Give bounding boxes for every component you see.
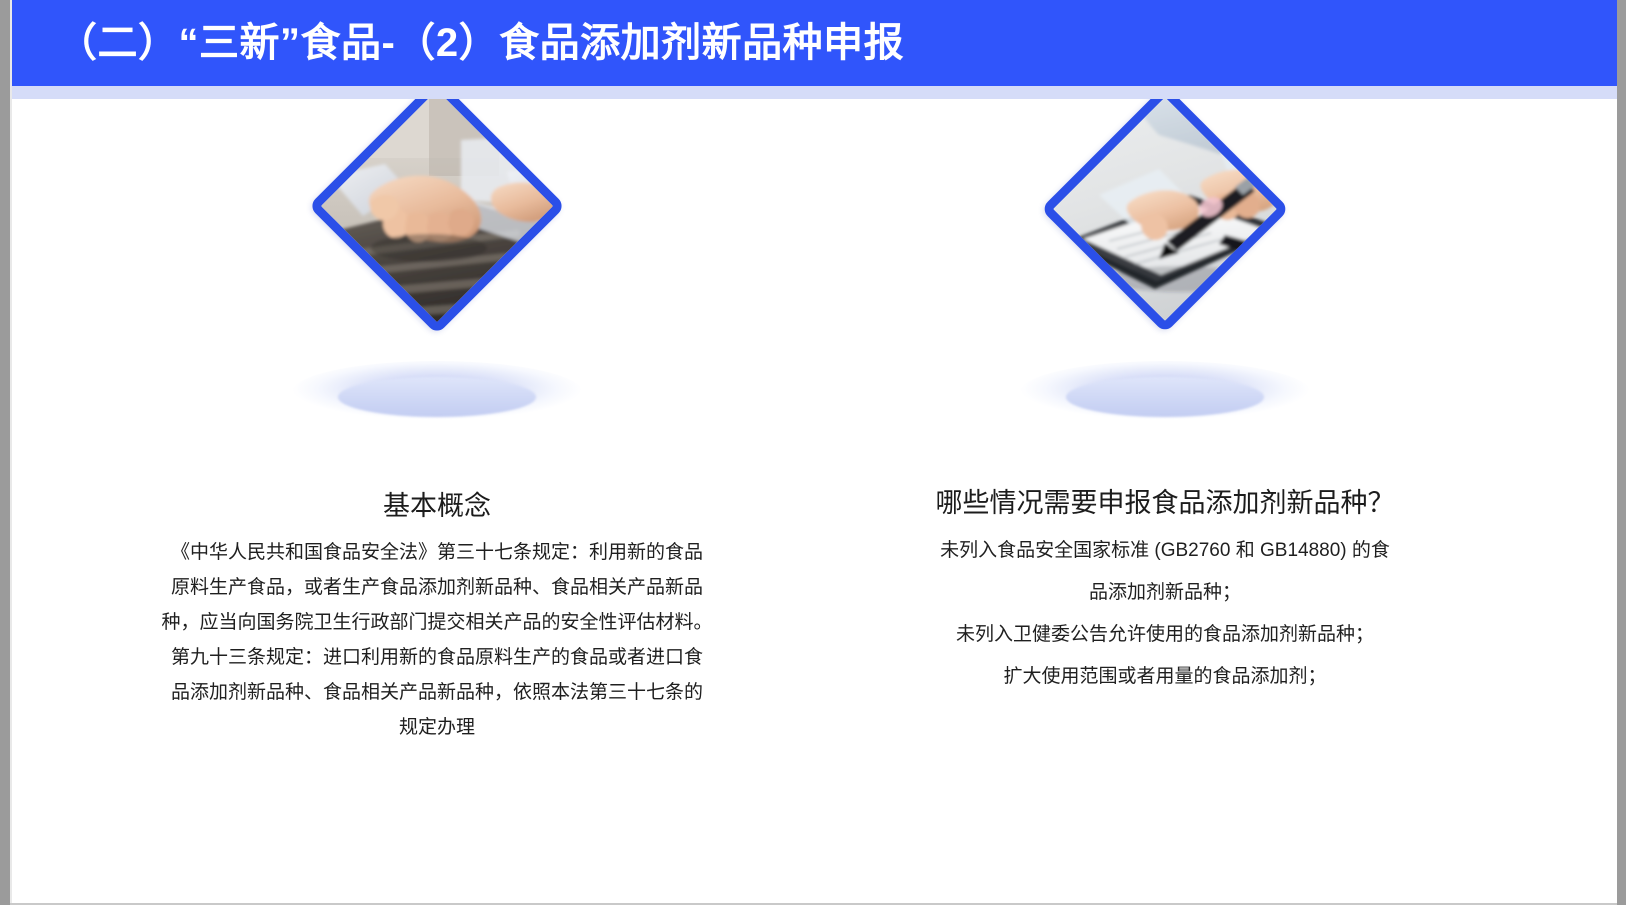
- panel-declaration-cases: 哪些情况需要申报食品添加剂新品种？ 未列入食品安全国家标准 (GB2760 和 …: [860, 99, 1470, 698]
- body-line: 品添加剂新品种、食品相关产品新品种，依照本法第三十七条的: [132, 675, 742, 710]
- body-line: 扩大使用范围或者用量的食品添加剂；: [860, 656, 1470, 698]
- pedestal-core-icon: [1066, 377, 1264, 417]
- body-line: 未列入卫健委公告允许使用的食品添加剂新品种；: [860, 614, 1470, 656]
- panel-body-declaration-cases: 未列入食品安全国家标准 (GB2760 和 GB14880) 的食 品添加剂新品…: [860, 530, 1470, 698]
- body-line: 未列入食品安全国家标准 (GB2760 和 GB14880) 的食: [860, 530, 1470, 572]
- frame-edge-right: [1617, 0, 1626, 905]
- laptop-typing-photo-icon: [308, 77, 565, 334]
- frame-inner-line-left: [10, 0, 12, 905]
- clipboard-writing-photo-icon: [1041, 85, 1290, 334]
- frame-edge-left: [0, 0, 10, 905]
- body-line: 规定办理: [132, 710, 742, 745]
- body-line: 原料生产食品，或者生产食品添加剂新品种、食品相关产品新品: [132, 570, 742, 605]
- panel-body-basic-concept: 《中华人民共和国食品安全法》第三十七条规定：利用新的食品 原料生产食品，或者生产…: [132, 535, 742, 745]
- body-line: 《中华人民共和国食品安全法》第三十七条规定：利用新的食品: [132, 535, 742, 570]
- body-line: 第九十三条规定：进口利用新的食品原料生产的食品或者进口食: [132, 640, 742, 675]
- body-line: 种，应当向国务院卫生行政部门提交相关产品的安全性评估材料。: [132, 605, 742, 640]
- slide-root: （二）“三新”食品-（2）食品添加剂新品种申报: [0, 0, 1626, 905]
- figure-basic-concept: [132, 99, 742, 459]
- laptop-typing-photo-image: [311, 80, 563, 332]
- clipboard-writing-photo-image: [1041, 85, 1290, 334]
- figure-declaration-cases: [860, 99, 1470, 459]
- panel-heading-basic-concept: 基本概念: [132, 487, 742, 525]
- page-title: （二）“三新”食品-（2）食品添加剂新品种申报: [57, 8, 904, 78]
- body-line: 品添加剂新品种；: [860, 572, 1470, 614]
- panel-basic-concept: 基本概念 《中华人民共和国食品安全法》第三十七条规定：利用新的食品 原料生产食品…: [132, 99, 742, 745]
- header-bar: （二）“三新”食品-（2）食品添加剂新品种申报: [10, 0, 1618, 86]
- content-area: 基本概念 《中华人民共和国食品安全法》第三十七条规定：利用新的食品 原料生产食品…: [12, 99, 1618, 903]
- panel-heading-declaration-cases: 哪些情况需要申报食品添加剂新品种？: [860, 484, 1470, 522]
- header-underband: [10, 86, 1618, 99]
- pedestal-core-icon: [338, 377, 536, 417]
